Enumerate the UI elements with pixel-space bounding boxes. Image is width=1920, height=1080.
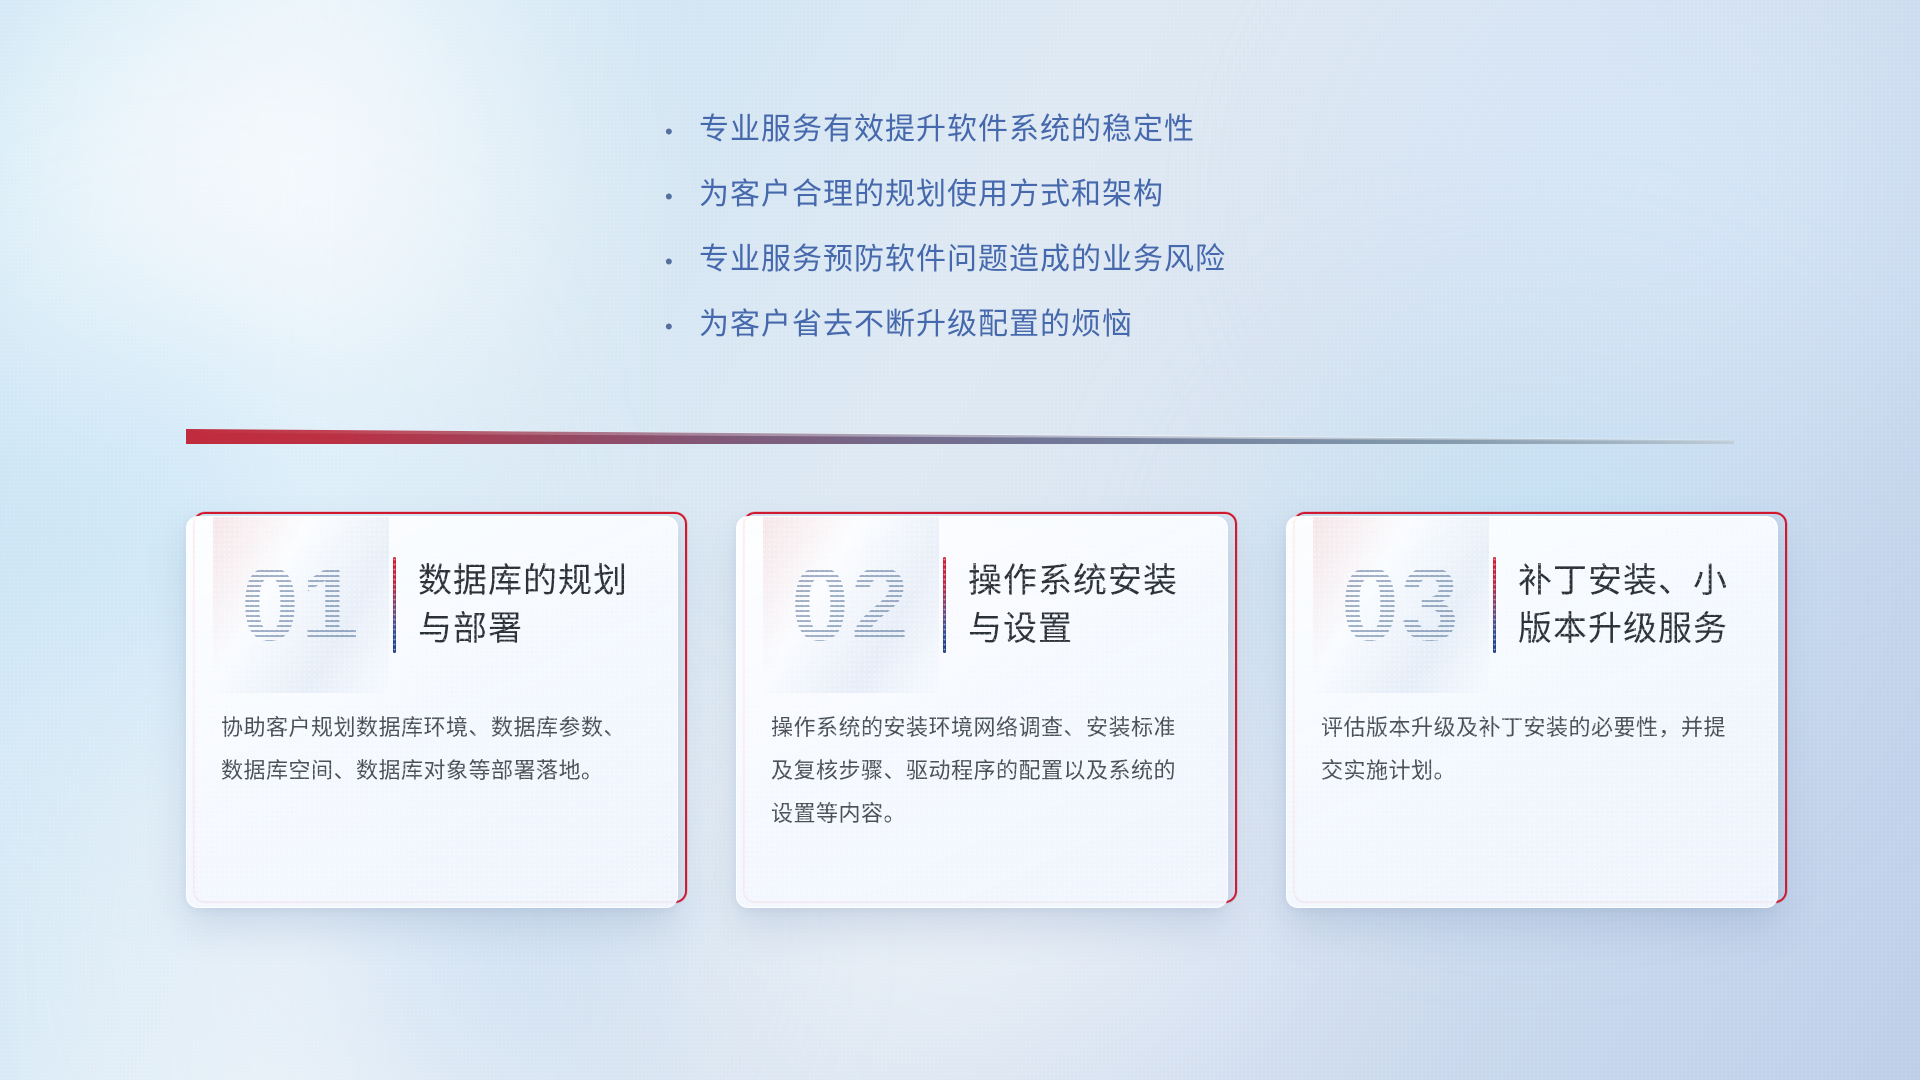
bullet-point-icon: •	[665, 316, 699, 338]
bullet-point-icon: •	[665, 251, 699, 273]
card-title: 数据库的规划与部署	[418, 557, 677, 654]
card-body-text: 操作系统的安装环境网络调查、安装标准及复核步骤、驱动程序的配置以及系统的设置等内…	[771, 707, 1197, 836]
card-divider-line	[943, 557, 946, 653]
card-divider-line	[393, 557, 396, 653]
bullet-point-icon: •	[665, 186, 699, 208]
card-surface: 03 补丁安装、小版本升级服务 评估版本升级及补丁安装的必要性，并提交实施计划。	[1286, 516, 1778, 908]
card-body-text: 评估版本升级及补丁安装的必要性，并提交实施计划。	[1321, 707, 1747, 793]
list-item: • 专业服务有效提升软件系统的稳定性	[665, 104, 1565, 169]
bullet-text: 为客户合理的规划使用方式和架构	[699, 169, 1164, 213]
card-title: 补丁安装、小版本升级服务	[1518, 557, 1777, 654]
card-surface: 02 操作系统安装与设置 操作系统的安装环境网络调查、安装标准及复核步骤、驱动程…	[736, 516, 1228, 908]
feature-card-01[interactable]: 01 数据库的规划与部署 协助客户规划数据库环境、数据库参数、数据库空间、数据库…	[186, 516, 678, 908]
bullet-list: • 专业服务有效提升软件系统的稳定性 • 为客户合理的规划使用方式和架构 • 专…	[665, 104, 1565, 364]
card-number: 03	[1313, 553, 1489, 657]
card-number: 02	[763, 553, 939, 657]
card-header: 02 操作系统安装与设置	[737, 517, 1227, 693]
card-surface: 01 数据库的规划与部署 协助客户规划数据库环境、数据库参数、数据库空间、数据库…	[186, 516, 678, 908]
card-number: 01	[213, 553, 389, 657]
card-divider-line	[1493, 557, 1496, 653]
list-item: • 专业服务预防软件问题造成的业务风险	[665, 234, 1565, 299]
feature-card-02[interactable]: 02 操作系统安装与设置 操作系统的安装环境网络调查、安装标准及复核步骤、驱动程…	[736, 516, 1228, 908]
card-title: 操作系统安装与设置	[968, 557, 1227, 654]
list-item: • 为客户合理的规划使用方式和架构	[665, 169, 1565, 234]
card-header: 03 补丁安装、小版本升级服务	[1287, 517, 1777, 693]
card-row: 01 数据库的规划与部署 协助客户规划数据库环境、数据库参数、数据库空间、数据库…	[0, 516, 1920, 936]
bullet-point-icon: •	[665, 121, 699, 143]
list-item: • 为客户省去不断升级配置的烦恼	[665, 299, 1565, 364]
bullet-text: 专业服务预防软件问题造成的业务风险	[699, 234, 1226, 278]
bullet-text: 专业服务有效提升软件系统的稳定性	[699, 104, 1195, 148]
section-divider	[186, 428, 1734, 444]
card-body-text: 协助客户规划数据库环境、数据库参数、数据库空间、数据库对象等部署落地。	[221, 707, 647, 793]
card-header: 01 数据库的规划与部署	[187, 517, 677, 693]
bullet-text: 为客户省去不断升级配置的烦恼	[699, 299, 1133, 343]
feature-card-03[interactable]: 03 补丁安装、小版本升级服务 评估版本升级及补丁安装的必要性，并提交实施计划。	[1286, 516, 1778, 908]
